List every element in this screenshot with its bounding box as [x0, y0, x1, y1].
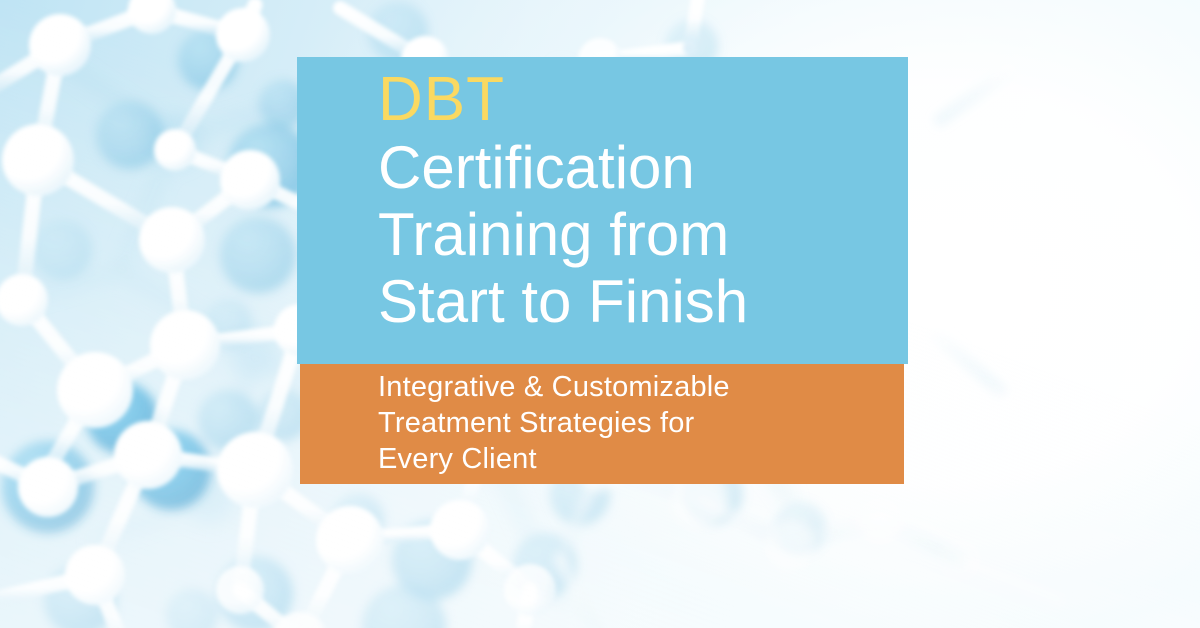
subtitle-line-2: Treatment Strategies for	[378, 405, 918, 441]
subtitle-line-1: Integrative & Customizable	[378, 369, 918, 405]
banner-graphic: DBT Certification Training from Start to…	[0, 0, 1200, 628]
title-line-1: Certification	[378, 134, 938, 201]
title-line-2: Training from	[378, 201, 938, 268]
subtitle-text-block: Integrative & Customizable Treatment Str…	[378, 369, 918, 477]
kicker-dbt: DBT	[378, 66, 938, 134]
subtitle-line-3: Every Client	[378, 441, 918, 477]
title-text-block: DBT Certification Training from Start to…	[378, 66, 938, 335]
title-line-3: Start to Finish	[378, 268, 938, 335]
